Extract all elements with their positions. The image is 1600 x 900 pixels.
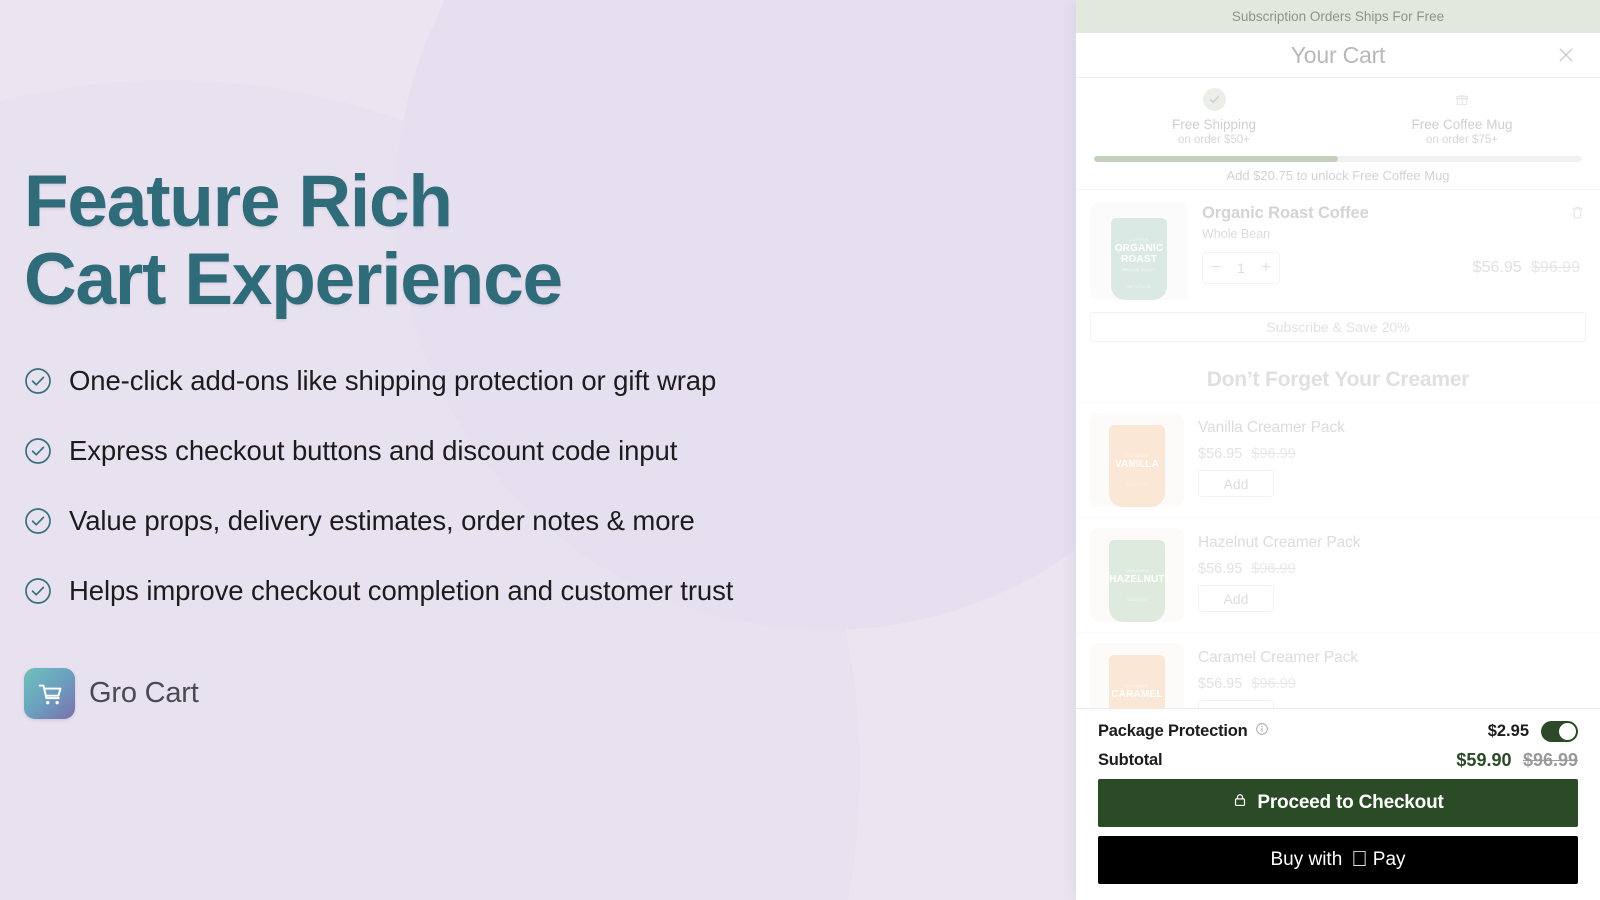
list-item: One-click add-ons like shipping protecti… bbox=[24, 357, 733, 405]
package-protection-row: Package Protection $2.95 bbox=[1098, 721, 1578, 742]
lock-icon bbox=[1232, 792, 1248, 814]
feature-label: Value props, delivery estimates, order n… bbox=[69, 505, 695, 537]
list-item: Helps improve checkout completion and cu… bbox=[24, 567, 733, 615]
apple-pay-label: Pay bbox=[1373, 849, 1406, 871]
check-circle-icon bbox=[24, 577, 52, 605]
cart-footer: Package Protection $2.95 Subtotal $59.90… bbox=[1076, 708, 1600, 900]
add-to-cart-button[interactable]: Add bbox=[1198, 700, 1274, 708]
rewards-progress-bar bbox=[1094, 156, 1582, 162]
product-title[interactable]: Hazelnut Creamer Pack bbox=[1198, 534, 1586, 552]
price-block: $56.95 $96.99 bbox=[1198, 561, 1586, 577]
headline-line-2: Cart Experience bbox=[24, 241, 562, 319]
cart-header: Your Cart bbox=[1076, 33, 1600, 78]
product-price: $56.95 bbox=[1198, 561, 1242, 577]
pouch-name-text: CARAMEL bbox=[1111, 689, 1162, 700]
reward-tier-threshold: on order $50+ bbox=[1178, 133, 1250, 148]
info-icon[interactable] bbox=[1255, 722, 1269, 741]
feature-label: Express checkout buttons and discount co… bbox=[69, 435, 677, 467]
brand-logo-lockup: Gro Cart bbox=[24, 668, 199, 719]
headline-line-1: Feature Rich bbox=[24, 163, 562, 241]
subtotal-values: $59.90 $96.99 bbox=[1456, 750, 1578, 771]
marketing-panel: Feature Rich Cart Experience One-click a… bbox=[0, 0, 1076, 900]
creamer-pouch-image: CREAMER VANILLA 16 BOTTLES bbox=[1109, 425, 1165, 507]
feature-label: Helps improve checkout completion and cu… bbox=[69, 575, 733, 607]
quantity-value: 1 bbox=[1229, 260, 1253, 276]
cart-items-scroll-area[interactable]: COFFEE ORGANIC ROAST MEDIUM ROAST NET WT… bbox=[1076, 189, 1600, 708]
decrease-quantity-button[interactable]: − bbox=[1203, 253, 1229, 283]
apple-pay-prefix: Buy with bbox=[1270, 849, 1342, 871]
product-title[interactable]: Caramel Creamer Pack bbox=[1198, 649, 1586, 667]
recommendation-row: CREAMER HAZELNUT 16 BOTTLES Hazelnut Cre… bbox=[1076, 517, 1600, 632]
remove-item-trash-icon[interactable] bbox=[1570, 204, 1586, 222]
feature-label: One-click add-ons like shipping protecti… bbox=[69, 365, 716, 397]
coffee-pouch-image: COFFEE ORGANIC ROAST MEDIUM ROAST NET WT… bbox=[1111, 218, 1167, 300]
increase-quantity-button[interactable]: + bbox=[1253, 253, 1279, 283]
gift-icon bbox=[1451, 88, 1474, 111]
creamer-pouch-image: CREAMER HAZELNUT 16 BOTTLES bbox=[1109, 540, 1165, 622]
apple-pay-button[interactable]: Buy with  Pay bbox=[1098, 836, 1578, 884]
product-compare-price: $96.99 bbox=[1251, 446, 1295, 462]
subtotal-row: Subtotal $59.90 $96.99 bbox=[1098, 750, 1578, 771]
subtotal-label: Subtotal bbox=[1098, 751, 1162, 770]
price-block: $56.95 $96.99 bbox=[1198, 446, 1586, 462]
list-item: Value props, delivery estimates, order n… bbox=[24, 497, 733, 545]
pouch-top-text: CREAMER bbox=[1125, 568, 1149, 573]
product-price: $56.95 bbox=[1473, 259, 1522, 276]
rewards-progress-note: Add $20.75 to unlock Free Coffee Mug bbox=[1090, 168, 1586, 183]
product-thumbnail: CREAMER CARAMEL 16 BOTTLES bbox=[1090, 643, 1184, 708]
add-to-cart-button[interactable]: Add bbox=[1198, 585, 1274, 612]
quantity-and-price-row: − 1 + $56.95 $96.99 bbox=[1202, 252, 1586, 284]
cart-line-item-details: Organic Roast Coffee Whole Bean − 1 bbox=[1202, 202, 1586, 300]
subtotal-value: $59.90 bbox=[1456, 750, 1511, 770]
reward-tier-label: Free Shipping bbox=[1172, 117, 1256, 132]
page-title: Feature Rich Cart Experience bbox=[24, 163, 562, 319]
toggle-knob bbox=[1559, 723, 1576, 740]
screen: Feature Rich Cart Experience One-click a… bbox=[0, 0, 1600, 900]
reward-tier-list: Free Shipping on order $50+ Free Coffee … bbox=[1090, 88, 1586, 148]
promo-banner: Subscription Orders Ships For Free bbox=[1076, 0, 1600, 33]
rewards-progress-fill bbox=[1094, 156, 1338, 162]
proceed-to-checkout-button[interactable]: Proceed to Checkout bbox=[1098, 779, 1578, 827]
pouch-top-text: CREAMER bbox=[1125, 453, 1149, 458]
apple-logo-icon:  bbox=[1351, 848, 1368, 870]
brand-name: Gro Cart bbox=[89, 677, 199, 710]
creamer-pouch-image: CREAMER CARAMEL 16 BOTTLES bbox=[1109, 655, 1165, 708]
pouch-foot-text: 16 BOTTLES bbox=[1127, 598, 1147, 602]
check-icon bbox=[1203, 88, 1226, 111]
product-compare-price: $96.99 bbox=[1531, 259, 1580, 276]
product-thumbnail: COFFEE ORGANIC ROAST MEDIUM ROAST NET WT… bbox=[1090, 202, 1188, 300]
pouch-foot-text: 16 BOTTLES bbox=[1127, 483, 1147, 487]
pouch-sub-text: MEDIUM ROAST bbox=[1122, 268, 1156, 272]
price-block: $56.95 $96.99 bbox=[1198, 676, 1586, 692]
product-title[interactable]: Vanilla Creamer Pack bbox=[1198, 419, 1586, 437]
feature-list: One-click add-ons like shipping protecti… bbox=[24, 357, 733, 637]
check-circle-icon bbox=[24, 367, 52, 395]
recommendation-details: Caramel Creamer Pack $56.95 $96.99 Add bbox=[1198, 643, 1586, 708]
recommendation-details: Vanilla Creamer Pack $56.95 $96.99 Add bbox=[1198, 413, 1586, 507]
recommendation-details: Hazelnut Creamer Pack $56.95 $96.99 Add bbox=[1198, 528, 1586, 622]
cart-drawer: Subscription Orders Ships For Free Your … bbox=[1076, 0, 1600, 900]
check-circle-icon bbox=[24, 437, 52, 465]
recommendation-row: CREAMER VANILLA 16 BOTTLES Vanilla Cream… bbox=[1076, 402, 1600, 517]
product-title[interactable]: Organic Roast Coffee bbox=[1202, 204, 1586, 223]
pouch-name-text: HAZELNUT bbox=[1109, 574, 1164, 585]
reward-tier-label: Free Coffee Mug bbox=[1411, 117, 1512, 132]
product-thumbnail: CREAMER VANILLA 16 BOTTLES bbox=[1090, 413, 1184, 507]
product-compare-price: $96.99 bbox=[1251, 676, 1295, 692]
rewards-progress-section: Free Shipping on order $50+ Free Coffee … bbox=[1076, 78, 1600, 189]
pouch-name-text: ORGANIC ROAST bbox=[1111, 243, 1167, 265]
package-protection-toggle[interactable] bbox=[1541, 721, 1578, 742]
package-protection-label: Package Protection bbox=[1098, 722, 1248, 741]
subtotal-compare-value: $96.99 bbox=[1523, 750, 1578, 770]
reward-tier-free-shipping: Free Shipping on order $50+ bbox=[1090, 88, 1338, 148]
recommendations-heading: Don’t Forget Your Creamer bbox=[1076, 368, 1600, 392]
pouch-top-text: CREAMER bbox=[1125, 683, 1149, 688]
package-protection-price: $2.95 bbox=[1488, 722, 1529, 741]
quantity-stepper[interactable]: − 1 + bbox=[1202, 252, 1280, 284]
pouch-top-text: COFFEE bbox=[1129, 237, 1149, 242]
package-protection-label-group: Package Protection bbox=[1098, 722, 1269, 741]
product-compare-price: $96.99 bbox=[1251, 561, 1295, 577]
product-thumbnail: CREAMER HAZELNUT 16 BOTTLES bbox=[1090, 528, 1184, 622]
product-variant: Whole Bean bbox=[1202, 227, 1586, 241]
cart-title: Your Cart bbox=[1291, 42, 1386, 69]
cart-line-item: COFFEE ORGANIC ROAST MEDIUM ROAST NET WT… bbox=[1076, 189, 1600, 304]
pouch-name-text: VANILLA bbox=[1115, 459, 1159, 470]
price-block: $56.95 $96.99 bbox=[1473, 259, 1580, 277]
product-price: $56.95 bbox=[1198, 446, 1242, 462]
package-protection-controls: $2.95 bbox=[1488, 721, 1578, 742]
shopping-cart-icon bbox=[24, 668, 75, 719]
list-item: Express checkout buttons and discount co… bbox=[24, 427, 733, 475]
add-to-cart-button[interactable]: Add bbox=[1198, 470, 1274, 497]
product-price: $56.95 bbox=[1198, 676, 1242, 692]
close-icon[interactable] bbox=[1554, 43, 1578, 67]
reward-tier-free-coffee-mug: Free Coffee Mug on order $75+ bbox=[1338, 88, 1586, 148]
recommendation-row: CREAMER CARAMEL 16 BOTTLES Caramel Cream… bbox=[1076, 632, 1600, 708]
subscribe-and-save-button[interactable]: Subscribe & Save 20% bbox=[1090, 312, 1586, 342]
reward-tier-threshold: on order $75+ bbox=[1426, 133, 1498, 148]
checkout-button-label: Proceed to Checkout bbox=[1257, 792, 1443, 814]
pouch-foot-text: NET WT 12 OZ bbox=[1127, 285, 1150, 289]
check-circle-icon bbox=[24, 507, 52, 535]
